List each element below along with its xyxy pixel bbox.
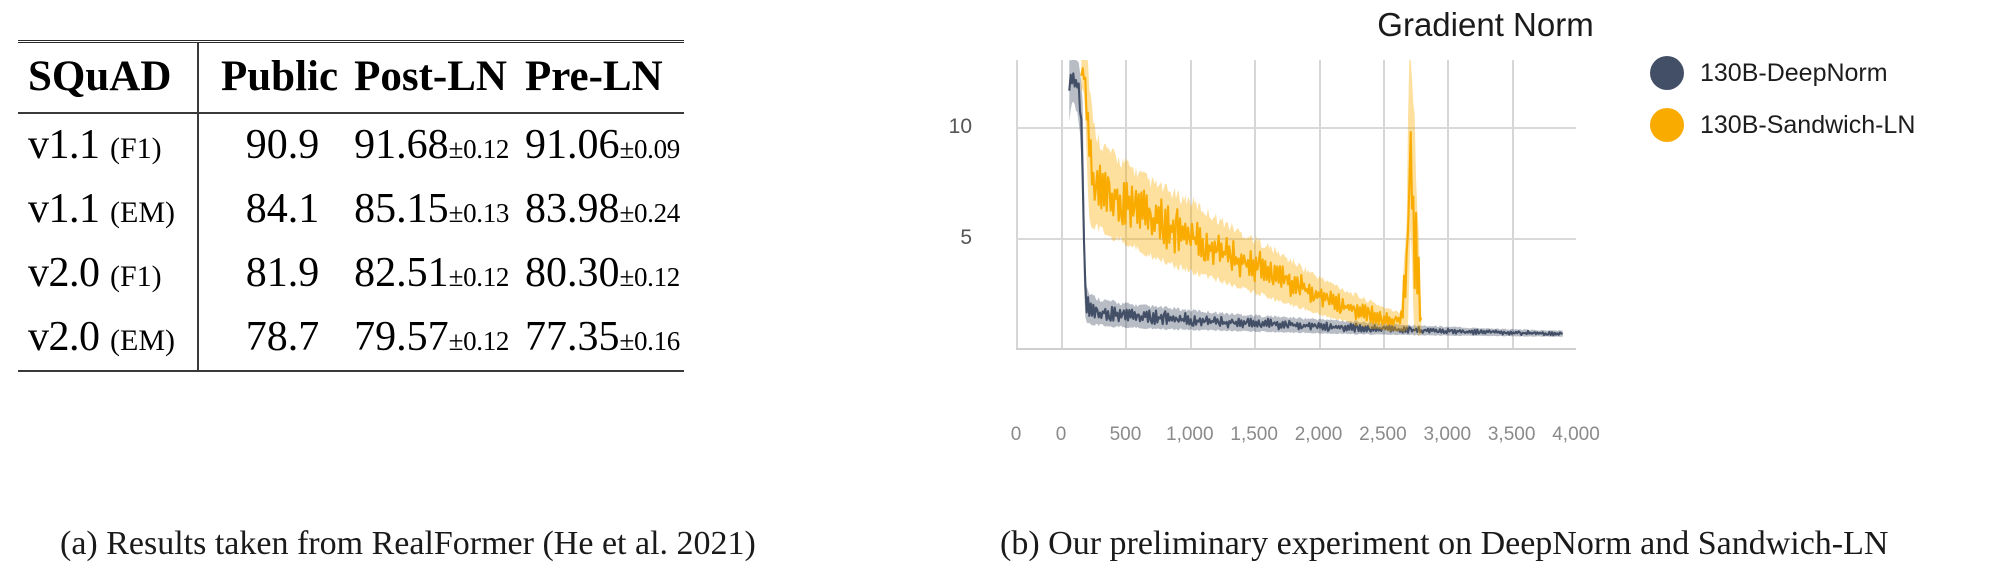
pre-ln-value: 83.98	[525, 186, 620, 232]
cell-post-ln: 82.51±0.12	[354, 242, 525, 306]
cell-public: 84.1	[198, 178, 354, 242]
header-post-ln: Post-LN	[354, 42, 525, 114]
pre-ln-value: 77.35	[525, 314, 620, 360]
post-ln-value: 82.51	[354, 250, 449, 296]
caption-a: (a) Results taken from RealFormer (He et…	[60, 525, 756, 563]
row-suffix: (EM)	[110, 196, 175, 229]
pre-ln-value: 80.30	[525, 250, 620, 296]
row-metric: v1.1	[28, 122, 100, 168]
legend-marker-circle-icon	[1650, 56, 1684, 90]
series-canvas	[1016, 60, 1576, 350]
cell-post-ln: 91.68±0.12	[354, 113, 525, 178]
x-axis-tick-label: 2,000	[1295, 424, 1343, 446]
row-metric: v2.0	[28, 314, 100, 360]
legend-item-deepnorm[interactable]: 130B-DeepNorm	[1650, 56, 1915, 90]
chart-legend: 130B-DeepNorm 130B-Sandwich-LN	[1650, 56, 1915, 160]
row-label: v1.1 (EM)	[18, 178, 198, 242]
row-label: v2.0 (EM)	[18, 306, 198, 371]
x-axis-line	[1016, 348, 1576, 350]
pre-ln-value: 91.06	[525, 122, 620, 168]
table-body: v1.1 (F1) 90.9 91.68±0.12 91.06±0.09 v1.…	[18, 113, 684, 370]
cell-pre-ln: 91.06±0.09	[525, 113, 684, 178]
x-axis-tick-label: 3,000	[1423, 424, 1471, 446]
x-axis-tick-label: 1,000	[1166, 424, 1214, 446]
x-axis-tick-label: 1,500	[1230, 424, 1278, 446]
pre-ln-err: ±0.24	[619, 198, 680, 228]
legend-label: 130B-Sandwich-LN	[1700, 111, 1915, 140]
header-public: Public	[198, 42, 354, 114]
table-row: v1.1 (F1) 90.9 91.68±0.12 91.06±0.09	[18, 113, 684, 178]
plot-area	[1016, 60, 1576, 350]
legend-item-sandwich-ln[interactable]: 130B-Sandwich-LN	[1650, 108, 1915, 142]
row-suffix: (EM)	[110, 324, 175, 357]
post-ln-err: ±0.12	[449, 134, 510, 164]
figure-root: SQuAD Public Post-LN Pre-LN v1.1 (F1) 90…	[0, 0, 2011, 586]
row-suffix: (F1)	[110, 260, 162, 293]
row-metric: v1.1	[28, 186, 100, 232]
cell-post-ln: 79.57±0.12	[354, 306, 525, 371]
post-ln-value: 91.68	[354, 122, 449, 168]
table-row: v1.1 (EM) 84.1 85.15±0.13 83.98±0.24	[18, 178, 684, 242]
x-axis-tick-label: 2,500	[1359, 424, 1407, 446]
row-metric: v2.0	[28, 250, 100, 296]
header-pre-ln: Pre-LN	[525, 42, 684, 114]
table-header-row: SQuAD Public Post-LN Pre-LN	[18, 42, 684, 114]
caption-b: (b) Our preliminary experiment on DeepNo…	[1000, 525, 1888, 563]
cell-post-ln: 85.15±0.13	[354, 178, 525, 242]
x-axis-tick-label: 4,000	[1552, 424, 1600, 446]
x-axis-tick-label: 500	[1110, 424, 1142, 446]
row-suffix: (F1)	[110, 132, 162, 165]
cell-public: 81.9	[198, 242, 354, 306]
post-ln-err: ±0.12	[449, 326, 510, 356]
post-ln-err: ±0.13	[449, 198, 510, 228]
cell-public: 90.9	[198, 113, 354, 178]
cell-pre-ln: 80.30±0.12	[525, 242, 684, 306]
x-axis-tick-label: 0	[1011, 424, 1022, 446]
table-row: v2.0 (F1) 81.9 82.51±0.12 80.30±0.12	[18, 242, 684, 306]
legend-label: 130B-DeepNorm	[1700, 59, 1888, 88]
pre-ln-err: ±0.09	[619, 134, 680, 164]
gradient-norm-plot: 510 005001,0001,5002,0002,5003,0003,5004…	[1016, 60, 1576, 350]
y-axis-tick-label: 5	[912, 226, 972, 250]
cell-pre-ln: 77.35±0.16	[525, 306, 684, 371]
row-label: v2.0 (F1)	[18, 242, 198, 306]
table-header: SQuAD Public Post-LN Pre-LN	[18, 42, 684, 114]
chart-title: Gradient Norm	[960, 6, 2011, 44]
panel-a-table: SQuAD Public Post-LN Pre-LN v1.1 (F1) 90…	[0, 0, 960, 586]
x-axis-tick-label: 0	[1056, 424, 1067, 446]
y-axis-tick-label: 10	[912, 115, 972, 139]
legend-marker-circle-icon	[1650, 108, 1684, 142]
row-label: v1.1 (F1)	[18, 113, 198, 178]
table-row: v2.0 (EM) 78.7 79.57±0.12 77.35±0.16	[18, 306, 684, 371]
x-axis-tick-label: 3,500	[1488, 424, 1536, 446]
post-ln-err: ±0.12	[449, 262, 510, 292]
post-ln-value: 79.57	[354, 314, 449, 360]
cell-public: 78.7	[198, 306, 354, 371]
header-squad: SQuAD	[18, 42, 198, 114]
pre-ln-err: ±0.12	[619, 262, 680, 292]
squad-table-wrap: SQuAD Public Post-LN Pre-LN v1.1 (F1) 90…	[18, 40, 938, 372]
pre-ln-err: ±0.16	[619, 326, 680, 356]
squad-results-table: SQuAD Public Post-LN Pre-LN v1.1 (F1) 90…	[18, 40, 684, 372]
panel-b-chart: Gradient Norm 510 005001,0001,5002,0002,…	[960, 0, 2011, 586]
cell-pre-ln: 83.98±0.24	[525, 178, 684, 242]
post-ln-value: 85.15	[354, 186, 449, 232]
